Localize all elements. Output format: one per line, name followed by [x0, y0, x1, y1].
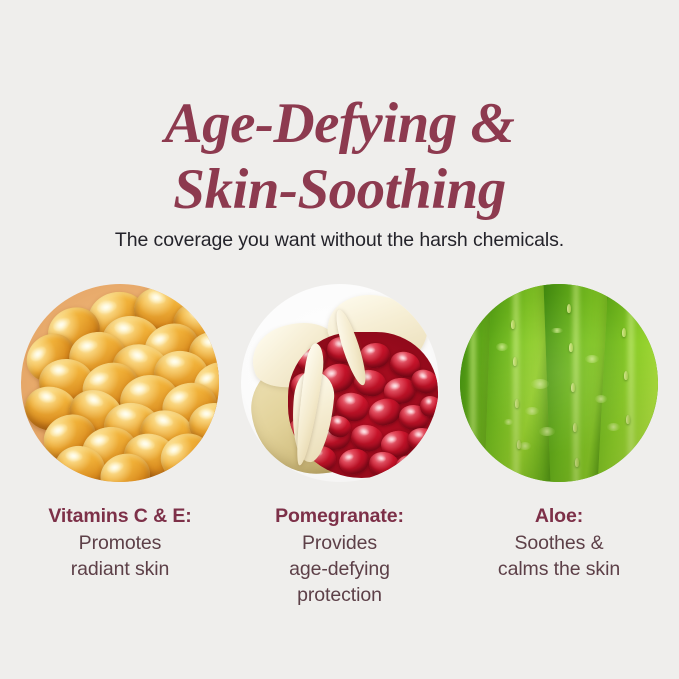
- caption-desc-line: calms the skin: [452, 556, 667, 582]
- caption-desc-line: protection: [232, 582, 447, 608]
- ingredient-item-vitamins: Vitamins C & E: Promotes radiant skin: [21, 284, 219, 608]
- pomegranate-photo: [241, 284, 439, 482]
- caption-desc-line: radiant skin: [13, 556, 228, 582]
- caption-description: Provides age-defying protection: [232, 530, 447, 608]
- page-subtitle: The coverage you want without the harsh …: [0, 227, 679, 253]
- headline-line-1: Age-Defying &: [0, 92, 679, 156]
- headline-line-2: Skin-Soothing: [0, 158, 679, 222]
- caption-title: Pomegranate:: [232, 503, 447, 529]
- caption-desc-line: Promotes: [13, 530, 228, 556]
- ingredient-benefits-poster: Age-Defying & Skin-Soothing The coverage…: [0, 0, 679, 679]
- aloe-shading: [460, 284, 658, 482]
- ingredient-item-aloe: Aloe: Soothes & calms the skin: [460, 284, 658, 608]
- page-title: Age-Defying & Skin-Soothing: [0, 92, 679, 222]
- vitamin-capsules-photo: [21, 284, 219, 482]
- ingredient-list: Vitamins C & E: Promotes radiant skin: [0, 284, 679, 608]
- caption-description: Soothes & calms the skin: [452, 530, 667, 582]
- caption-desc-line: Soothes &: [452, 530, 667, 556]
- ingredient-caption-pomegranate: Pomegranate: Provides age-defying protec…: [232, 503, 447, 608]
- caption-title: Aloe:: [452, 503, 667, 529]
- caption-description: Promotes radiant skin: [13, 530, 228, 582]
- ingredient-caption-vitamins: Vitamins C & E: Promotes radiant skin: [13, 503, 228, 582]
- ingredient-item-pomegranate: Pomegranate: Provides age-defying protec…: [241, 284, 439, 608]
- caption-title: Vitamins C & E:: [13, 503, 228, 529]
- aloe-leaves-photo: [460, 284, 658, 482]
- ingredient-caption-aloe: Aloe: Soothes & calms the skin: [452, 503, 667, 582]
- caption-desc-line: Provides: [232, 530, 447, 556]
- caption-desc-line: age-defying: [232, 556, 447, 582]
